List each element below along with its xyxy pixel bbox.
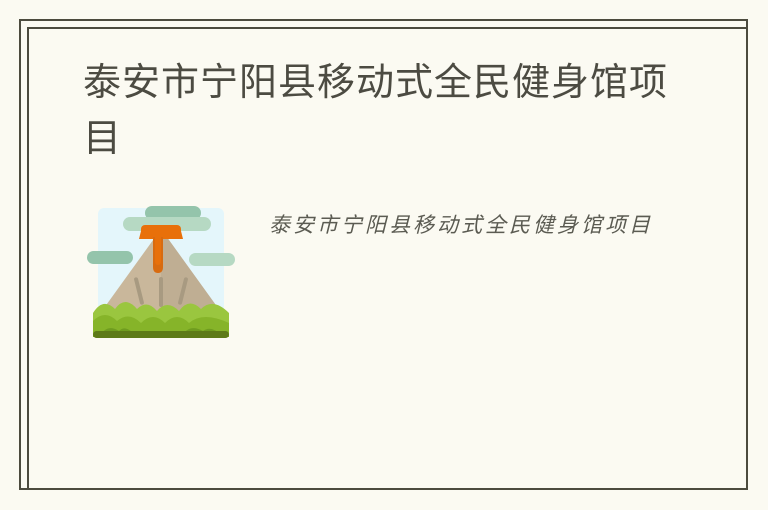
media-caption: 泰安市宁阳县移动式全民健身馆项目 [269,195,653,245]
page-title: 泰安市宁阳县移动式全民健身馆项目 [57,55,693,167]
page-root: 泰安市宁阳县移动式全民健身馆项目 [0,0,768,510]
volcano-icon [85,195,237,347]
media-row: 泰安市宁阳县移动式全民健身馆项目 [57,195,718,347]
content-area: 泰安市宁阳县移动式全民健身馆项目 [27,27,748,490]
